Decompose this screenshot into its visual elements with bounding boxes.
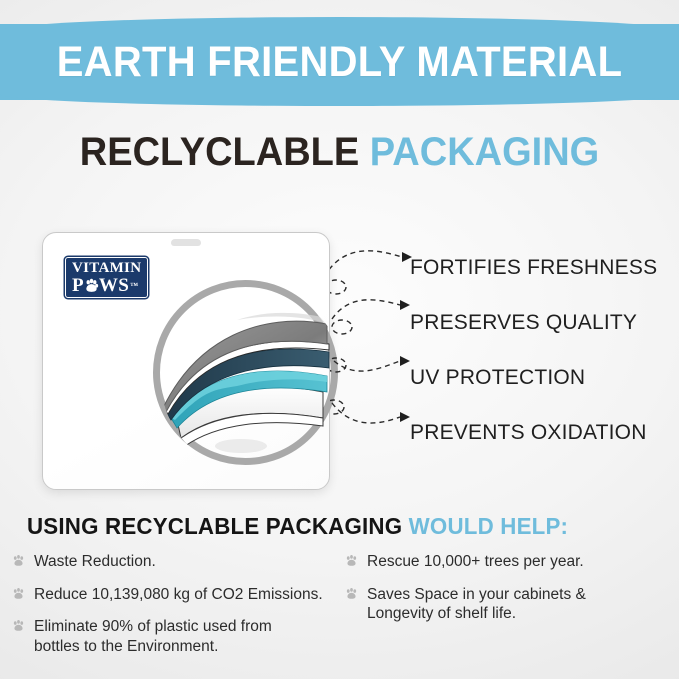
benefit-text: Eliminate 90% of plastic used from bottl… xyxy=(34,617,272,656)
paw-icon xyxy=(345,587,358,600)
subheadline: RECLYCLABLE PACKAGING xyxy=(17,130,662,175)
leader-line-2 xyxy=(332,300,400,319)
brand-logo-line1: VITAMIN xyxy=(72,261,141,276)
benefit-item: Waste Reduction. xyxy=(12,552,342,572)
benefit-item: Rescue 10,000+ trees per year. xyxy=(345,552,675,572)
brand-logo: VITAMIN P WS ™ xyxy=(65,257,148,298)
feature-list: FORTIFIES FRESHNESS PRESERVES QUALITY UV… xyxy=(410,240,679,460)
header-banner-title: EARTH FRIENDLY MATERIAL xyxy=(24,24,655,100)
arrowhead-4 xyxy=(400,412,410,422)
arrowhead-3 xyxy=(400,356,410,366)
paw-icon xyxy=(84,278,99,293)
feature-item-uv-protection: UV PROTECTION xyxy=(410,350,679,405)
paw-icon xyxy=(345,554,358,567)
leader-marker-4 xyxy=(330,400,344,414)
feature-label: FORTIFIES FRESHNESS xyxy=(410,256,657,280)
benefits-column-right: Rescue 10,000+ trees per year. Saves Spa… xyxy=(345,552,675,637)
benefit-text: Saves Space in your cabinets & Longevity… xyxy=(367,585,586,624)
benefits-column-left: Waste Reduction. Reduce 10,139,080 kg of… xyxy=(12,552,342,669)
feature-item-fortifies-freshness: FORTIFIES FRESHNESS xyxy=(410,240,679,295)
feature-label: PREVENTS OXIDATION xyxy=(410,421,647,445)
paw-icon xyxy=(12,554,25,567)
bottom-headline-dark-part: USING RECYCLABLE PACKAGING xyxy=(27,513,402,539)
brand-logo-line2: P WS ™ xyxy=(72,276,141,295)
subheadline-blue-part: PACKAGING xyxy=(370,130,599,174)
paw-icon xyxy=(12,619,25,632)
feature-label: UV PROTECTION xyxy=(410,366,585,390)
brand-logo-trademark: ™ xyxy=(130,282,138,290)
package-hang-hole xyxy=(171,239,201,246)
feature-label: PRESERVES QUALITY xyxy=(410,311,637,335)
leader-marker-1 xyxy=(330,280,346,294)
benefit-text: Rescue 10,000+ trees per year. xyxy=(367,552,584,572)
product-package: VITAMIN P WS ™ xyxy=(42,232,330,490)
brand-logo-line2-before: P xyxy=(72,276,84,295)
leader-marker-2 xyxy=(332,320,352,334)
leader-line-3 xyxy=(334,361,400,371)
header-banner: EARTH FRIENDLY MATERIAL xyxy=(0,24,679,100)
arrowhead-2 xyxy=(400,300,410,310)
brand-logo-line2-after: WS xyxy=(99,276,129,295)
bottom-headline-blue-part: WOULD HELP: xyxy=(409,513,569,539)
material-layers-diagram xyxy=(141,268,351,478)
benefit-item: Reduce 10,139,080 kg of CO2 Emissions. xyxy=(12,585,342,605)
bottom-headline: USING RECYCLABLE PACKAGING WOULD HELP: xyxy=(27,513,568,540)
benefit-text: Waste Reduction. xyxy=(34,552,156,572)
feature-item-preserves-quality: PRESERVES QUALITY xyxy=(410,295,679,350)
feature-item-prevents-oxidation: PREVENTS OXIDATION xyxy=(410,405,679,460)
paw-icon xyxy=(12,587,25,600)
leader-line-1 xyxy=(330,251,402,277)
subheadline-dark-part: RECLYCLABLE xyxy=(80,130,359,174)
benefit-item: Eliminate 90% of plastic used from bottl… xyxy=(12,617,342,656)
benefit-item: Saves Space in your cabinets & Longevity… xyxy=(345,585,675,624)
benefit-text: Reduce 10,139,080 kg of CO2 Emissions. xyxy=(34,585,323,605)
leader-line-4 xyxy=(332,403,400,423)
leader-marker-3 xyxy=(330,358,346,372)
